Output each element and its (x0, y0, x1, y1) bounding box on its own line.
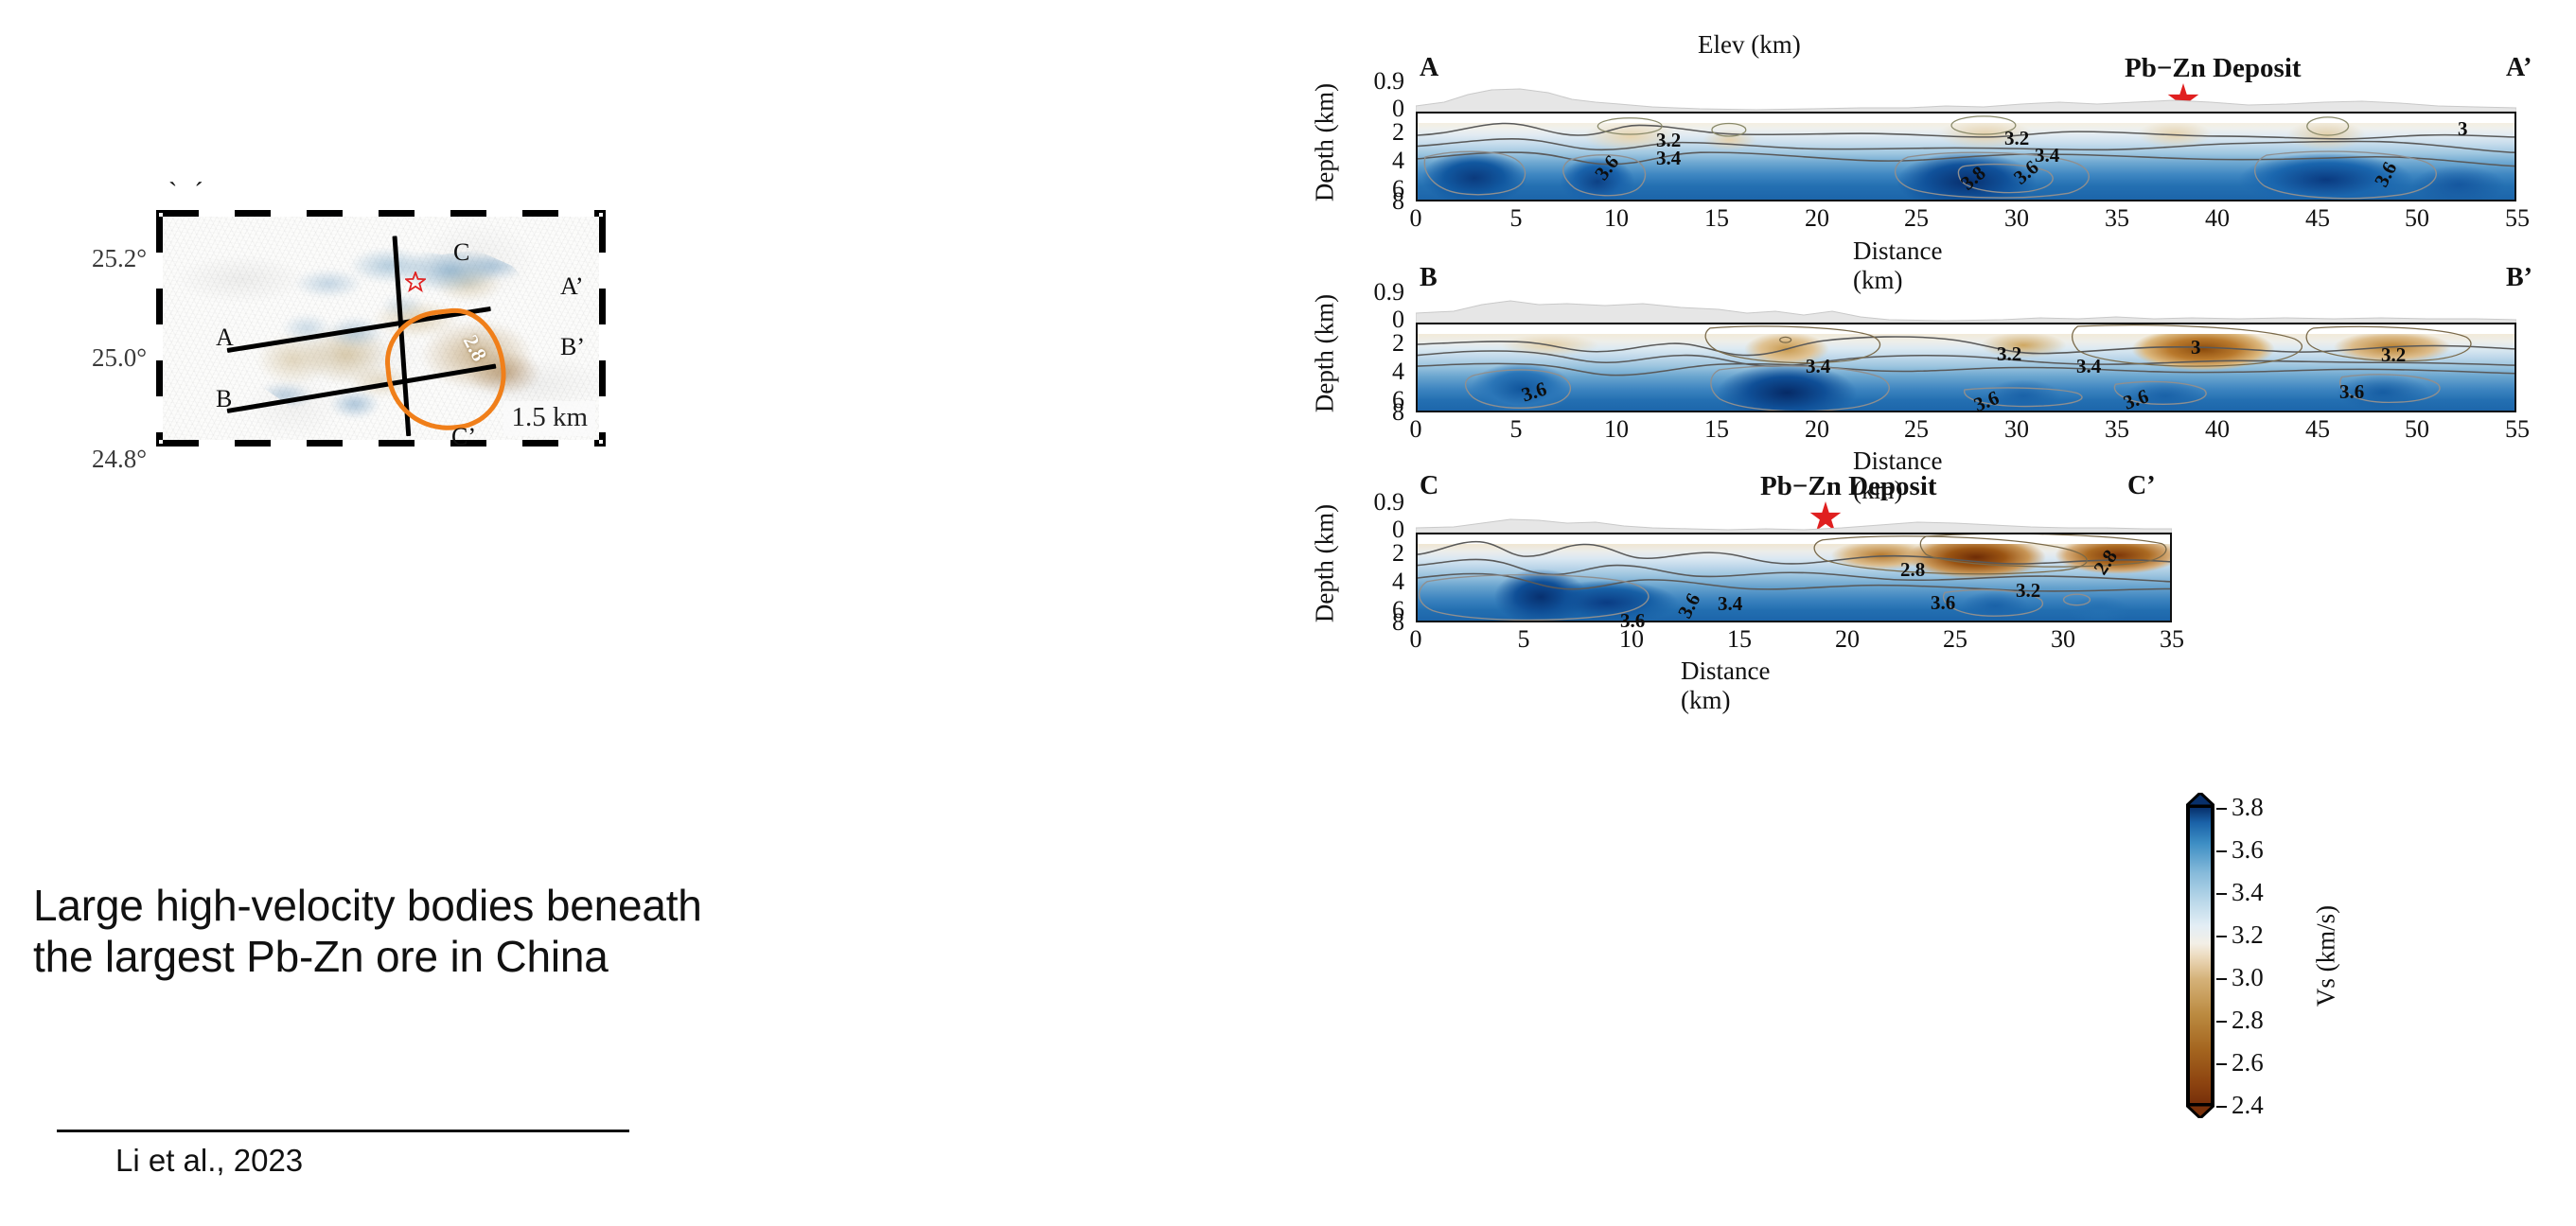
colorbar-label-30: 3.0 (2232, 963, 2264, 992)
profile-BB-xtick-5: 5 (1488, 415, 1544, 444)
map-border-ticks-left (156, 217, 163, 440)
colorbar-label-38: 3.8 (2232, 793, 2264, 822)
map-label-c-prime: C’ (451, 423, 476, 451)
profile-AA-ytick-4: 4 (1344, 147, 1404, 175)
cross-section-column: Elev (km) A A’ Pb−Zn Deposit 0.9 0 2 4 6… (1287, 0, 2576, 1226)
colorbar-tick-32 (2216, 936, 2227, 937)
colorbar-label-28: 2.8 (2232, 1006, 2264, 1035)
colorbar-tick-36 (2216, 850, 2227, 852)
profile-BB-contour-label-1: 3.4 (1806, 355, 1830, 378)
lat-label-252: 25.2° (5, 244, 147, 273)
citation-text: Li et al., 2023 (115, 1143, 303, 1179)
lat-label-248: 24.8° (5, 445, 147, 474)
profile-BB-contour-label-8: 3.6 (2339, 380, 2364, 404)
profile-BB-xtick-40: 40 (2189, 415, 2246, 444)
profile-AA-xtick-10: 10 (1588, 204, 1645, 233)
pb-zn-deposit-star-icon (405, 271, 426, 292)
profile-CC-contour-label-3: 3.4 (1718, 592, 1742, 616)
profile-CC-xtick-10: 10 (1603, 625, 1660, 654)
profile-BB-xtick-30: 30 (1988, 415, 2045, 444)
profile-BB-xtick-55: 55 (2489, 415, 2546, 444)
profile-AA-xtick-30: 30 (1988, 204, 2045, 233)
profile-CC-end-label: C’ (2127, 471, 2156, 501)
colorbar-title: Vs (km/s) (2312, 871, 2341, 1042)
colorbar-tick-26 (2216, 1063, 2227, 1065)
profile-BB-topography (1416, 292, 2516, 324)
profile-AA-xtick-0: 0 (1387, 204, 1444, 233)
colorbar-label-26: 2.6 (2232, 1048, 2264, 1077)
colorbar-tick-24 (2216, 1106, 2227, 1108)
profile-AA-contour-label-6: 3.4 (2035, 144, 2059, 167)
profile-AA-contour-label-5: 3.2 (2004, 127, 2029, 150)
profile-BB-xtick-25: 25 (1888, 415, 1945, 444)
profile-AA-xtick-15: 15 (1688, 204, 1745, 233)
profile-BB-xtick-15: 15 (1688, 415, 1745, 444)
colorbar-tick-38 (2216, 808, 2227, 810)
profile-AA-start-label: A (1420, 53, 1438, 83)
profile-CC-contour-label-0: 2.8 (1900, 558, 1925, 582)
profile-AA-ytick-09: 0.9 (1344, 67, 1404, 96)
profile-BB-ytick-2: 2 (1344, 329, 1404, 358)
profile-AA-xlabel: Distance (km) (1853, 236, 1942, 295)
profile-CC-ytick-2: 2 (1344, 539, 1404, 568)
profile-CC-xtick-35: 35 (2144, 625, 2200, 654)
colorbar-tick-30 (2216, 978, 2227, 980)
profile-CC-start-label: C (1420, 471, 1438, 501)
profile-CC-xlabel: Distance (km) (1681, 657, 1770, 715)
colorbar-gradient (2186, 804, 2214, 1107)
profile-BB-xtick-0: 0 (1387, 415, 1444, 444)
profile-BB-xtick-45: 45 (2289, 415, 2346, 444)
map-border-ticks-bottom (163, 440, 599, 447)
profile-BB-contour-label-4: 3 (2191, 336, 2201, 359)
profile-CC-heatmap (1416, 533, 2172, 622)
profile-AA-deposit-label: Pb−Zn Deposit (2125, 53, 2302, 84)
colorbar-tick-34 (2216, 893, 2227, 895)
profile-AA-end-label: A’ (2506, 53, 2532, 83)
colorbar-tick-28 (2216, 1021, 2227, 1023)
profile-CC-xtick-15: 15 (1711, 625, 1768, 654)
profile-BB-end-label: B’ (2506, 263, 2532, 293)
map-border-ticks-right (599, 217, 606, 440)
profile-AA-contour-label-1: 3.4 (1656, 147, 1681, 170)
profile-BB-contour-label-2: 3.2 (1997, 342, 2021, 366)
map-border-ticks-top (163, 210, 599, 217)
map-scale-bar: 1.5 km (503, 401, 595, 436)
profile-AA-xtick-45: 45 (2289, 204, 2346, 233)
profile-AA-ylabel: Depth (km) (1311, 62, 1340, 223)
profile-BB-contour-label-3: 3.4 (2076, 355, 2101, 378)
caption-line-1: Large high-velocity bodies beneath (33, 880, 1121, 931)
profile-AA-xtick-50: 50 (2389, 204, 2445, 233)
profile-BB-start-label: B (1420, 263, 1438, 293)
colorbar-top-cap (2186, 793, 2214, 806)
profile-AA-xtick-40: 40 (2189, 204, 2246, 233)
profile-AA-contour-label-8: 3 (2458, 117, 2468, 141)
crop-mark: `´ (168, 178, 221, 208)
profile-CC-deposit-label: Pb−Zn Deposit (1760, 471, 1937, 502)
map-label-c: C (453, 238, 469, 267)
profile-CC-xtick-5: 5 (1495, 625, 1552, 654)
profile-AA-xtick-25: 25 (1888, 204, 1945, 233)
profile-AA-topography (1416, 81, 2516, 114)
profile-CC-topography (1416, 502, 2172, 534)
profile-BB-xtick-20: 20 (1789, 415, 1845, 444)
profile-CC-xtick-30: 30 (2035, 625, 2091, 654)
profile-CC-ytick-4: 4 (1344, 568, 1404, 596)
profile-AA-xtick-5: 5 (1488, 204, 1544, 233)
profile-BB-contour-label-5: 3.2 (2381, 343, 2406, 367)
profile-BB-xtick-50: 50 (2389, 415, 2445, 444)
slide-caption: Large high-velocity bodies beneath the l… (33, 880, 1121, 983)
profile-CC-contour-label-2: 3.2 (2016, 579, 2040, 603)
profile-BB-ytick-4: 4 (1344, 358, 1404, 386)
elev-axis-title: Elev (km) (1698, 30, 1801, 60)
profile-CC-xtick-0: 0 (1387, 625, 1444, 654)
map-label-b: B (216, 385, 232, 413)
map-label-a: A (216, 324, 234, 352)
profile-AA-xtick-55: 55 (2489, 204, 2546, 233)
colorbar-label-34: 3.4 (2232, 878, 2264, 907)
map-label-b-prime: B’ (560, 333, 585, 361)
colorbar-bottom-cap (2186, 1105, 2214, 1118)
profile-CC-contour-label-6: 3.6 (1931, 591, 1955, 615)
profile-AA-xtick-20: 20 (1789, 204, 1845, 233)
profile-CC-xtick-20: 20 (1819, 625, 1876, 654)
caption-line-2: the largest Pb-Zn ore in China (33, 931, 1121, 982)
profile-AA-ytick-2: 2 (1344, 118, 1404, 147)
profile-CC-xtick-25: 25 (1927, 625, 1984, 654)
map-label-a-prime: A’ (560, 272, 584, 301)
left-column: `´ 25.2° 25.0° 24.8° 2.8 1.5 km (0, 0, 1287, 1226)
colorbar-label-24: 2.4 (2232, 1091, 2264, 1120)
profile-BB-ytick-09: 0.9 (1344, 278, 1404, 306)
profile-CC-ylabel: Depth (km) (1311, 483, 1340, 644)
colorbar-label-32: 3.2 (2232, 920, 2264, 950)
colorbar-label-36: 3.6 (2232, 835, 2264, 865)
profile-CC-ytick-09: 0.9 (1344, 488, 1404, 517)
profile-BB-xtick-35: 35 (2089, 415, 2145, 444)
lat-label-250: 25.0° (5, 343, 147, 373)
profile-AA-xtick-35: 35 (2089, 204, 2145, 233)
citation-divider (57, 1130, 629, 1132)
profile-BB-ylabel: Depth (km) (1311, 273, 1340, 434)
profile-BB-xtick-10: 10 (1588, 415, 1645, 444)
